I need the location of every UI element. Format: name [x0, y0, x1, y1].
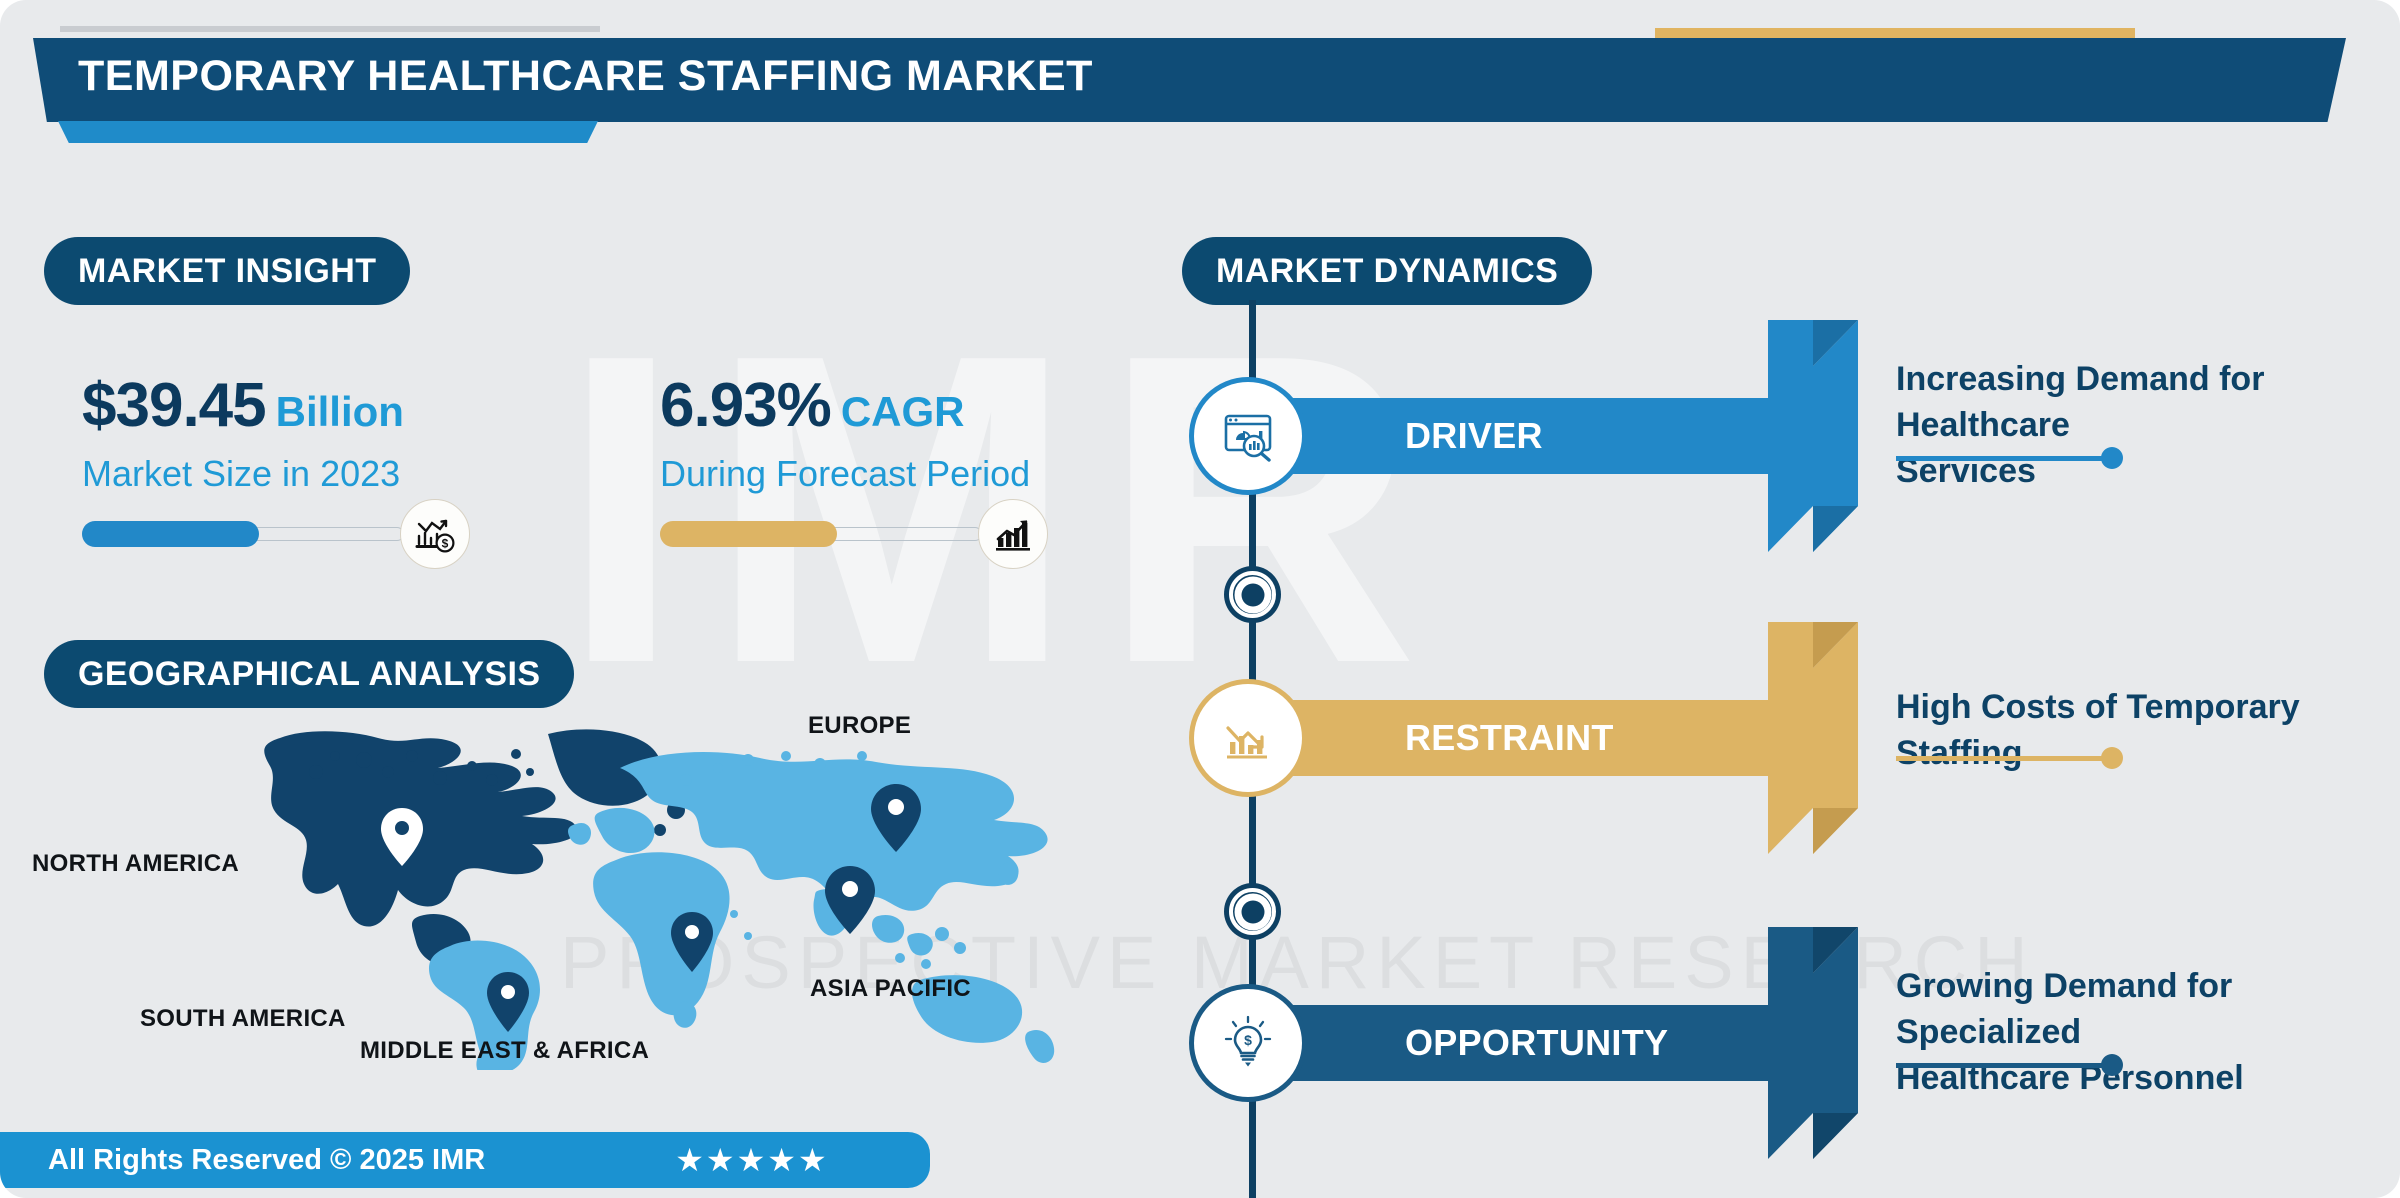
driver-description-line: Increasing Demand for Healthcare [1896, 356, 2400, 448]
driver-label: DRIVER [1405, 415, 1543, 457]
copyright-text: All Rights Reserved © 2025 IMR [48, 1144, 485, 1177]
rating-stars: ★★★★★ [675, 1141, 828, 1179]
stat-value: 6.93% [660, 371, 831, 440]
driver-description-line: Services [1896, 448, 2400, 494]
page-title: TEMPORARY HEALTHCARE STAFFING MARKET [78, 52, 1093, 101]
map-label-south-america: SOUTH AMERICA [140, 1005, 346, 1033]
opportunity-label: OPPORTUNITY [1405, 1022, 1668, 1064]
svg-text:$: $ [442, 536, 449, 550]
timeline-node [1229, 888, 1276, 935]
restraint-description: High Costs of Temporary Staffing [1896, 684, 2400, 776]
world-map: NORTH AMERICA EUROPE ASIA PACIFIC SOUTH … [120, 720, 1130, 1070]
opportunity-description-line: Growing Demand for Specialized [1896, 963, 2400, 1055]
driver-description: Increasing Demand for Healthcare Service… [1896, 356, 2400, 494]
stat-progress-bar [660, 521, 1005, 547]
stat-sublabel: During Forecast Period [660, 453, 1130, 495]
opportunity-description: Growing Demand for Specialized Healthcar… [1896, 963, 2400, 1101]
section-label-market-insight: MARKET INSIGHT [44, 237, 410, 305]
stat-card-market-size: $39.45Billion Market Size in 2023 [82, 370, 502, 547]
opportunity-description-line: Healthcare Personnel [1896, 1055, 2400, 1101]
opportunity-bar: OPPORTUNITY [1255, 1005, 1800, 1081]
driver-bar: DRIVER [1255, 398, 1800, 474]
section-label-geographical-analysis: GEOGRAPHICAL ANALYSIS [44, 640, 574, 708]
lightbulb-dollar-icon: $ [1194, 989, 1302, 1097]
stat-value: $39.45 [82, 371, 266, 440]
header-blue-accent [58, 121, 598, 143]
map-label-middle-east-africa: MIDDLE EAST & AFRICA [360, 1037, 649, 1065]
stat-progress-fill [660, 521, 837, 547]
driver-underline [1896, 456, 2110, 461]
map-label-north-america: NORTH AMERICA [32, 850, 239, 878]
restraint-underline [1896, 756, 2110, 761]
stat-card-cagr: 6.93%CAGR During Forecast Period [660, 370, 1130, 547]
stat-progress-bar: $ [82, 521, 427, 547]
stat-unit: CAGR [841, 388, 965, 435]
svg-text:$: $ [1244, 1032, 1252, 1048]
stat-unit: Billion [276, 388, 404, 435]
stat-progress-fill [82, 521, 259, 547]
driver-end-dot [2101, 447, 2123, 469]
restraint-end-dot [2101, 747, 2123, 769]
infographic-canvas: IMR PROSPECTIVE MARKET RESEARCH TEMPORAR… [0, 0, 2400, 1198]
section-label-market-dynamics: MARKET DYNAMICS [1182, 237, 1592, 305]
bar-chart-dollar-icon: $ [400, 499, 470, 569]
dashboard-analytics-icon [1194, 382, 1302, 490]
restraint-label: RESTRAINT [1405, 717, 1614, 759]
growth-arrow-icon [978, 499, 1048, 569]
restraint-description-line: High Costs of Temporary Staffing [1896, 684, 2400, 776]
opportunity-end-dot [2101, 1054, 2123, 1076]
footer-bar: All Rights Reserved © 2025 IMR ★★★★★ [0, 1132, 930, 1188]
declining-chart-icon [1194, 684, 1302, 792]
timeline-node [1229, 571, 1276, 618]
opportunity-underline [1896, 1063, 2110, 1068]
map-label-europe: EUROPE [808, 712, 911, 740]
header-ghost-line [60, 26, 600, 32]
restraint-bar: RESTRAINT [1255, 700, 1800, 776]
map-label-asia-pacific: ASIA PACIFIC [810, 975, 971, 1003]
stat-sublabel: Market Size in 2023 [82, 453, 502, 495]
